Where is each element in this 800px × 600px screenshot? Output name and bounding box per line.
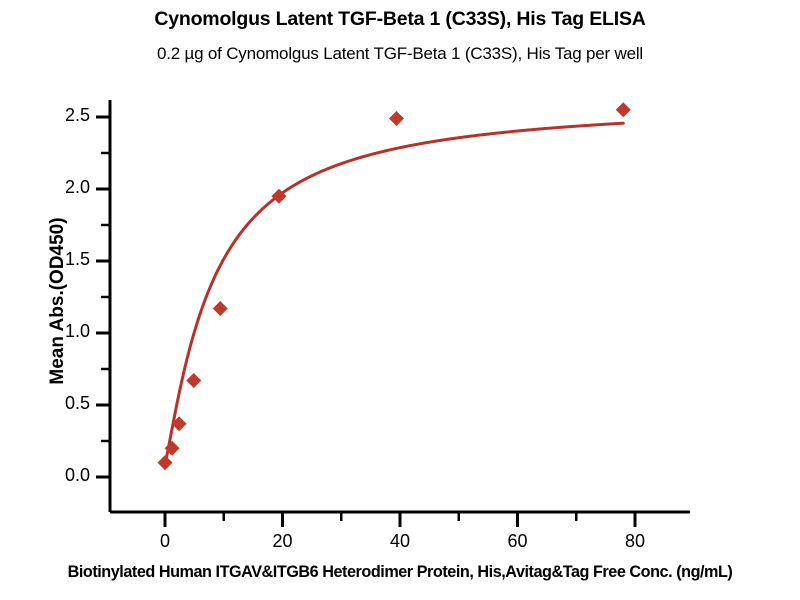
x-tick-label: 20 (253, 531, 313, 552)
data-point-markers (158, 102, 631, 470)
y-tick-label: 1.5 (30, 249, 90, 270)
x-tick-label: 0 (135, 531, 195, 552)
elisa-chart-figure: Cynomolgus Latent TGF-Beta 1 (C33S), His… (0, 0, 800, 600)
y-tick-label: 2.0 (30, 177, 90, 198)
x-axis-ticks (165, 512, 635, 527)
data-point-marker (186, 373, 201, 388)
data-point-marker (616, 102, 631, 117)
axis-spines (110, 100, 690, 512)
data-point-marker (389, 111, 404, 126)
plot-area (0, 0, 800, 600)
y-axis-ticks (96, 117, 110, 477)
x-tick-label: 60 (488, 531, 548, 552)
x-tick-label: 40 (370, 531, 430, 552)
fit-curve (165, 123, 623, 463)
x-tick-label: 80 (605, 531, 665, 552)
data-point-marker (213, 301, 228, 316)
y-tick-label: 1.0 (30, 321, 90, 342)
y-tick-label: 0.5 (30, 393, 90, 414)
y-tick-label: 2.5 (30, 105, 90, 126)
data-point-marker (158, 455, 173, 470)
y-tick-label: 0.0 (30, 465, 90, 486)
